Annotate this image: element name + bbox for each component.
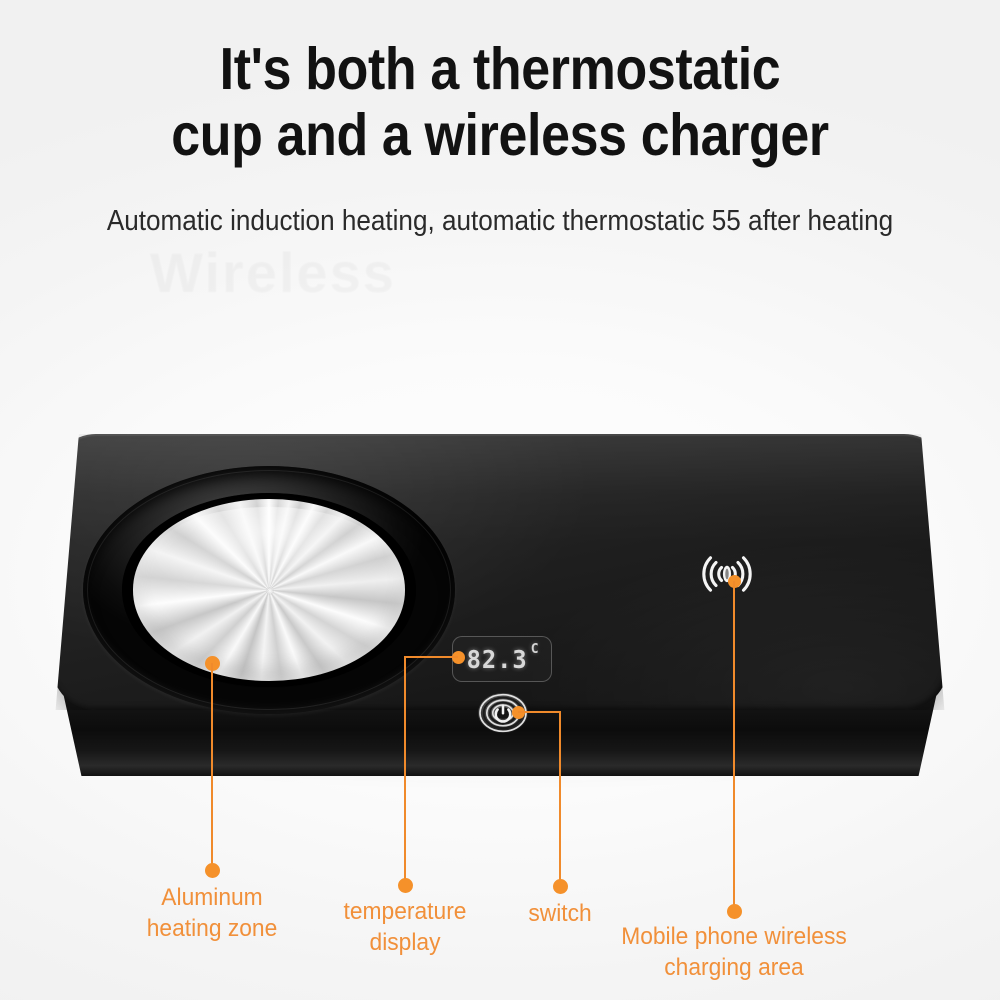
wireless-charging-icon: [694, 552, 760, 596]
page-subtitle: Automatic induction heating, automatic t…: [50, 203, 950, 239]
callout-dot-wireless-bottom: [727, 904, 742, 919]
wireless-charging-area: [694, 552, 760, 596]
temperature-display: 82.3 C: [452, 636, 552, 682]
callout-aluminum-line2: heating zone: [147, 915, 278, 942]
callout-line-temperature-vertical: [404, 656, 406, 885]
callout-temperature-line1: temperature: [344, 898, 467, 925]
callout-line-temperature-horizontal: [404, 656, 458, 658]
callout-line-wireless: [733, 581, 735, 911]
callout-line-switch-horizontal: [518, 711, 560, 713]
headline-line-1: It's both a thermostatic: [60, 36, 940, 102]
callout-wireless-line2: charging area: [664, 954, 803, 981]
aluminum-heating-zone: [83, 466, 455, 714]
aluminum-spun-disc-icon: [133, 499, 405, 680]
poster-canvas: Wireless It's both a thermostatic cup an…: [0, 0, 1000, 1000]
headline-line-2: cup and a wireless charger: [60, 102, 940, 168]
callout-switch-line1: switch: [528, 900, 591, 927]
callout-temperature-line2: display: [370, 929, 441, 956]
callout-dot-switch-bottom: [553, 879, 568, 894]
temperature-value: 82.3: [467, 647, 528, 672]
callout-label-wireless-charging-area: Mobile phone wireless charging area: [592, 921, 877, 983]
callout-wireless-line1: Mobile phone wireless: [621, 923, 847, 950]
callout-label-aluminum-heating-zone: Aluminum heating zone: [117, 882, 307, 944]
callout-dot-temperature-bottom: [398, 878, 413, 893]
temperature-unit: C: [531, 643, 539, 656]
callout-line-aluminum: [211, 663, 213, 870]
callout-line-switch-vertical: [559, 711, 561, 886]
callout-dot-aluminum-bottom: [205, 863, 220, 878]
background-watermark: Wireless: [150, 240, 580, 310]
callout-aluminum-line1: Aluminum: [161, 884, 262, 911]
page-title: It's both a thermostatic cup and a wirel…: [60, 36, 940, 168]
